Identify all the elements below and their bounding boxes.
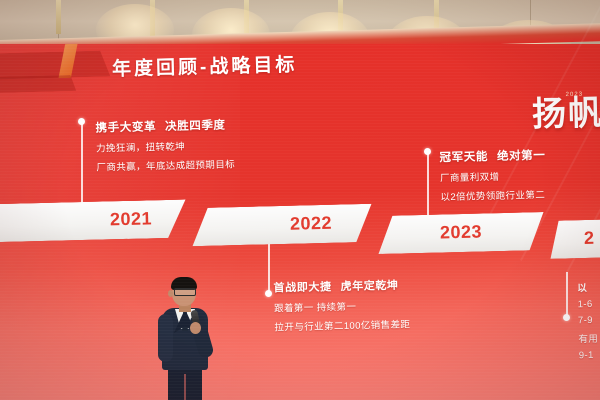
speaker-leg-gap — [184, 374, 186, 400]
timeline-connector — [566, 272, 568, 316]
milestone-heading-right: 绝对第一 — [497, 150, 546, 163]
year-label: 2022 — [290, 213, 333, 235]
year-panel-2023: 2023 — [378, 212, 545, 254]
milestone-block-2023: 冠军天能绝对第一 厂商量利双增 以2倍优势领跑行业第二 — [439, 147, 546, 203]
milestone-heading-right: 决胜四季度 — [165, 120, 226, 133]
brand-year: 2023 — [566, 91, 600, 98]
speaker — [150, 278, 220, 400]
milestone-line: 厂商量利双增 — [440, 168, 546, 184]
timeline-connector — [268, 236, 270, 292]
milestone-line: 9-1 — [579, 350, 599, 361]
decor-stripe — [0, 50, 110, 79]
page-title: 年度回顾-战略目标 — [112, 50, 298, 82]
milestone-heading: 首战即大捷虎年定乾坤 — [273, 276, 409, 295]
milestone-heading-left: 冠军天能 — [439, 151, 488, 164]
milestone-heading-right: 虎年定乾坤 — [340, 280, 398, 293]
brand-mark: 扬帆 — [532, 97, 600, 131]
milestone-line: 有用 — [578, 331, 598, 345]
milestone-heading-left: 首战即大捷 — [273, 281, 331, 294]
milestone-line: 以2倍优势领跑行业第二 — [440, 187, 546, 203]
year-panel-2022: 2022 — [192, 204, 373, 246]
milestone-heading-left: 携手大变革 — [95, 121, 156, 134]
timeline-connector — [427, 154, 429, 224]
year-label: 2021 — [110, 208, 153, 230]
ceiling-trim — [56, 0, 61, 34]
milestone-block-2022: 首战即大捷虎年定乾坤 跟着第一 持续第一 拉开与行业第二100亿销售差距 — [273, 276, 410, 333]
year-label: 2 — [584, 228, 595, 249]
speaker-arm-left — [158, 314, 173, 362]
speaker-glasses — [174, 288, 196, 296]
milestone-line: 力挽狂澜，扭转乾坤 — [96, 137, 235, 154]
milestone-heading: 携手大变革决胜四季度 — [95, 116, 234, 135]
milestone-line: 1-6 — [578, 299, 598, 310]
speaker-ear — [168, 290, 173, 297]
timeline-dot — [265, 290, 272, 297]
year-label: 2023 — [440, 221, 483, 243]
milestone-heading: 冠军天能绝对第一 — [439, 147, 545, 165]
decor-stripe — [0, 75, 76, 93]
brand-logo: 2023 扬帆 — [532, 91, 600, 131]
milestone-line: 7-9 — [578, 315, 598, 326]
stage-photo: 年度回顾-战略目标 2023 扬帆 携手大变革决胜四季度 力挽狂澜，扭转乾坤 厂… — [0, 0, 600, 400]
milestone-line: 以 — [577, 280, 597, 294]
milestone-block-clipped: 以 1-6 7-9 有用 9-1 — [577, 280, 599, 361]
milestone-line: 跟着第一 持续第一 — [274, 297, 410, 314]
milestone-block-2021: 携手大变革决胜四季度 力挽狂澜，扭转乾坤 厂商共赢，年底达成超预期目标 — [95, 116, 235, 173]
timeline-connector — [81, 124, 83, 208]
timeline-dot — [563, 314, 570, 321]
year-panel-2021: 2021 — [0, 200, 186, 243]
speaker-hand — [190, 322, 201, 334]
